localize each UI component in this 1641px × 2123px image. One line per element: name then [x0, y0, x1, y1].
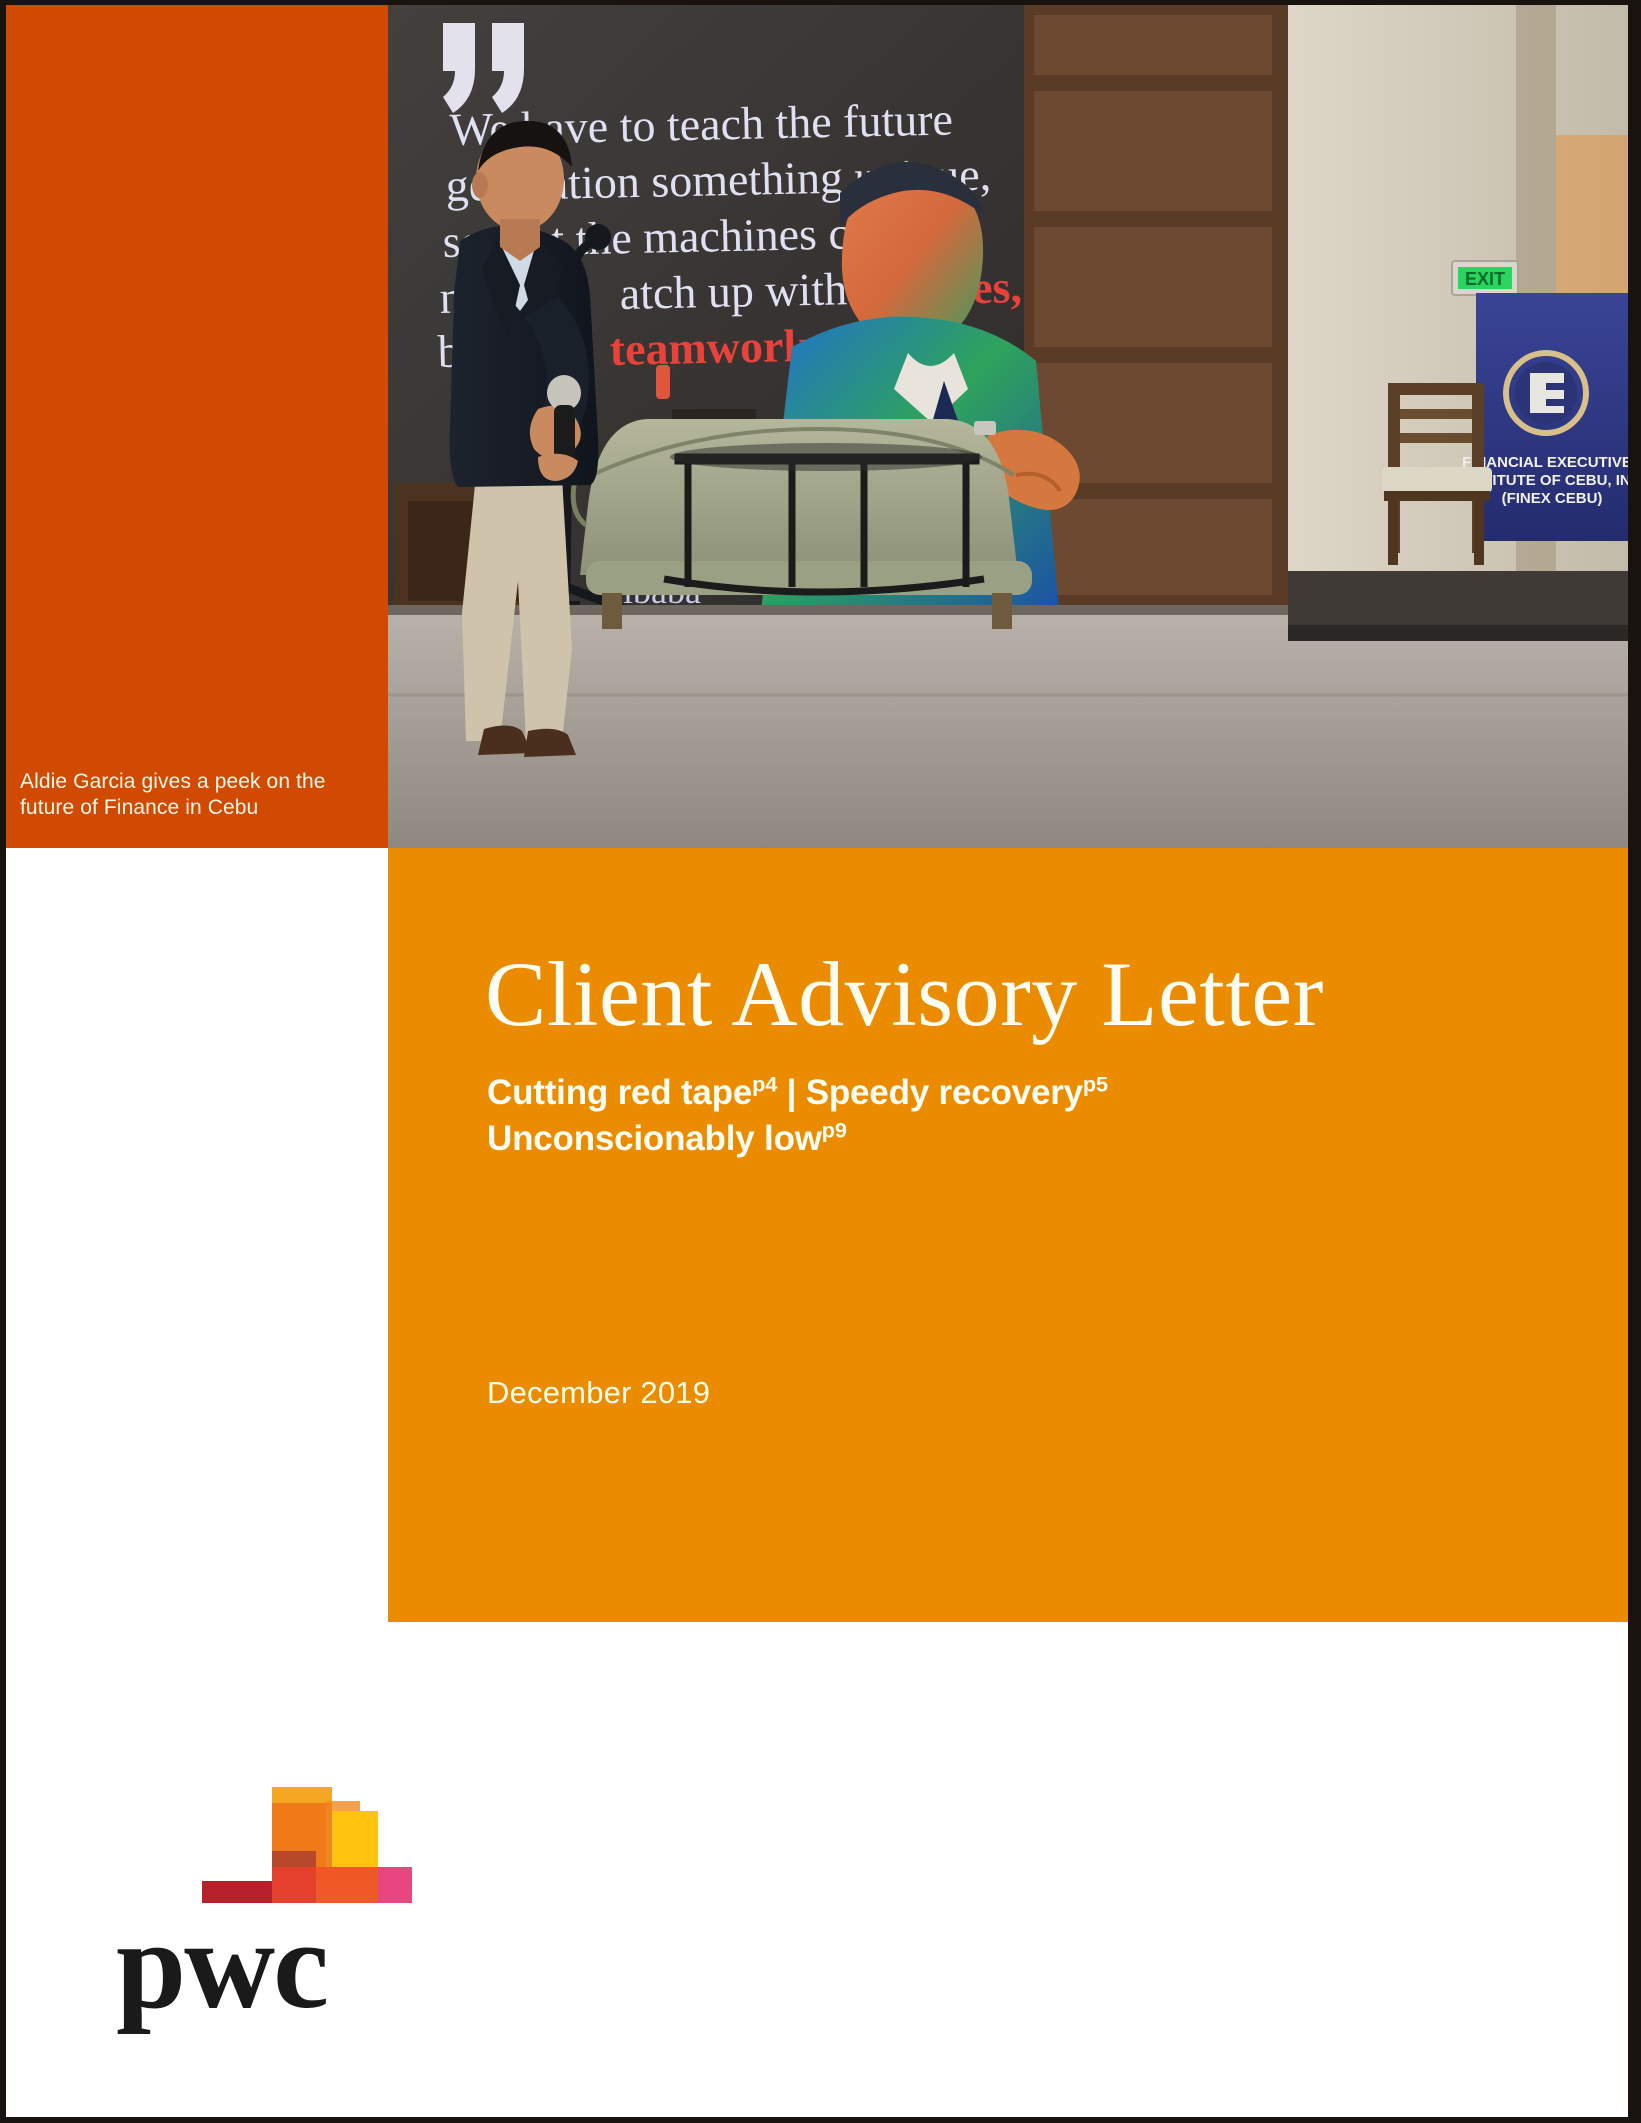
photo-illustration: We have to teach the future generation s…: [388, 5, 1628, 848]
page-sheet: Aldie Garcia gives a peek on the future …: [0, 0, 1641, 2123]
cover-subtitle: Cutting red tapep4 | Speedy recoveryp5 U…: [487, 1070, 1507, 1162]
title-block: Client Advisory Letter Cutting red tapep…: [388, 848, 1628, 1622]
pwc-logo-mark-icon: [114, 1775, 444, 1915]
subtitle-page-ref-3: p9: [822, 1118, 847, 1143]
svg-text:(FINEX CEBU): (FINEX CEBU): [1502, 490, 1603, 507]
page-title: Client Advisory Letter: [485, 948, 1545, 1040]
pwc-logo: pwc: [114, 1775, 444, 2050]
left-accent-bar: Aldie Garcia gives a peek on the future …: [6, 5, 388, 848]
svg-text:pwc: pwc: [116, 1896, 327, 2035]
subtitle-page-ref-2: p5: [1083, 1071, 1108, 1096]
subtitle-separator: |: [787, 1073, 797, 1112]
svg-text:EXIT: EXIT: [1465, 269, 1505, 289]
publication-date: December 2019: [487, 1375, 710, 1411]
photo-caption: Aldie Garcia gives a peek on the future …: [20, 769, 350, 822]
subtitle-topic-1: Cutting red tape: [487, 1073, 752, 1112]
page-canvas: Aldie Garcia gives a peek on the future …: [6, 5, 1628, 2117]
subtitle-topic-2: Speedy recovery: [806, 1073, 1083, 1112]
cover-photograph: We have to teach the future generation s…: [388, 5, 1628, 848]
subtitle-topic-3: Unconscionably low: [487, 1119, 822, 1158]
subtitle-page-ref-1: p4: [752, 1071, 777, 1096]
pwc-wordmark: pwc: [96, 1895, 426, 2045]
